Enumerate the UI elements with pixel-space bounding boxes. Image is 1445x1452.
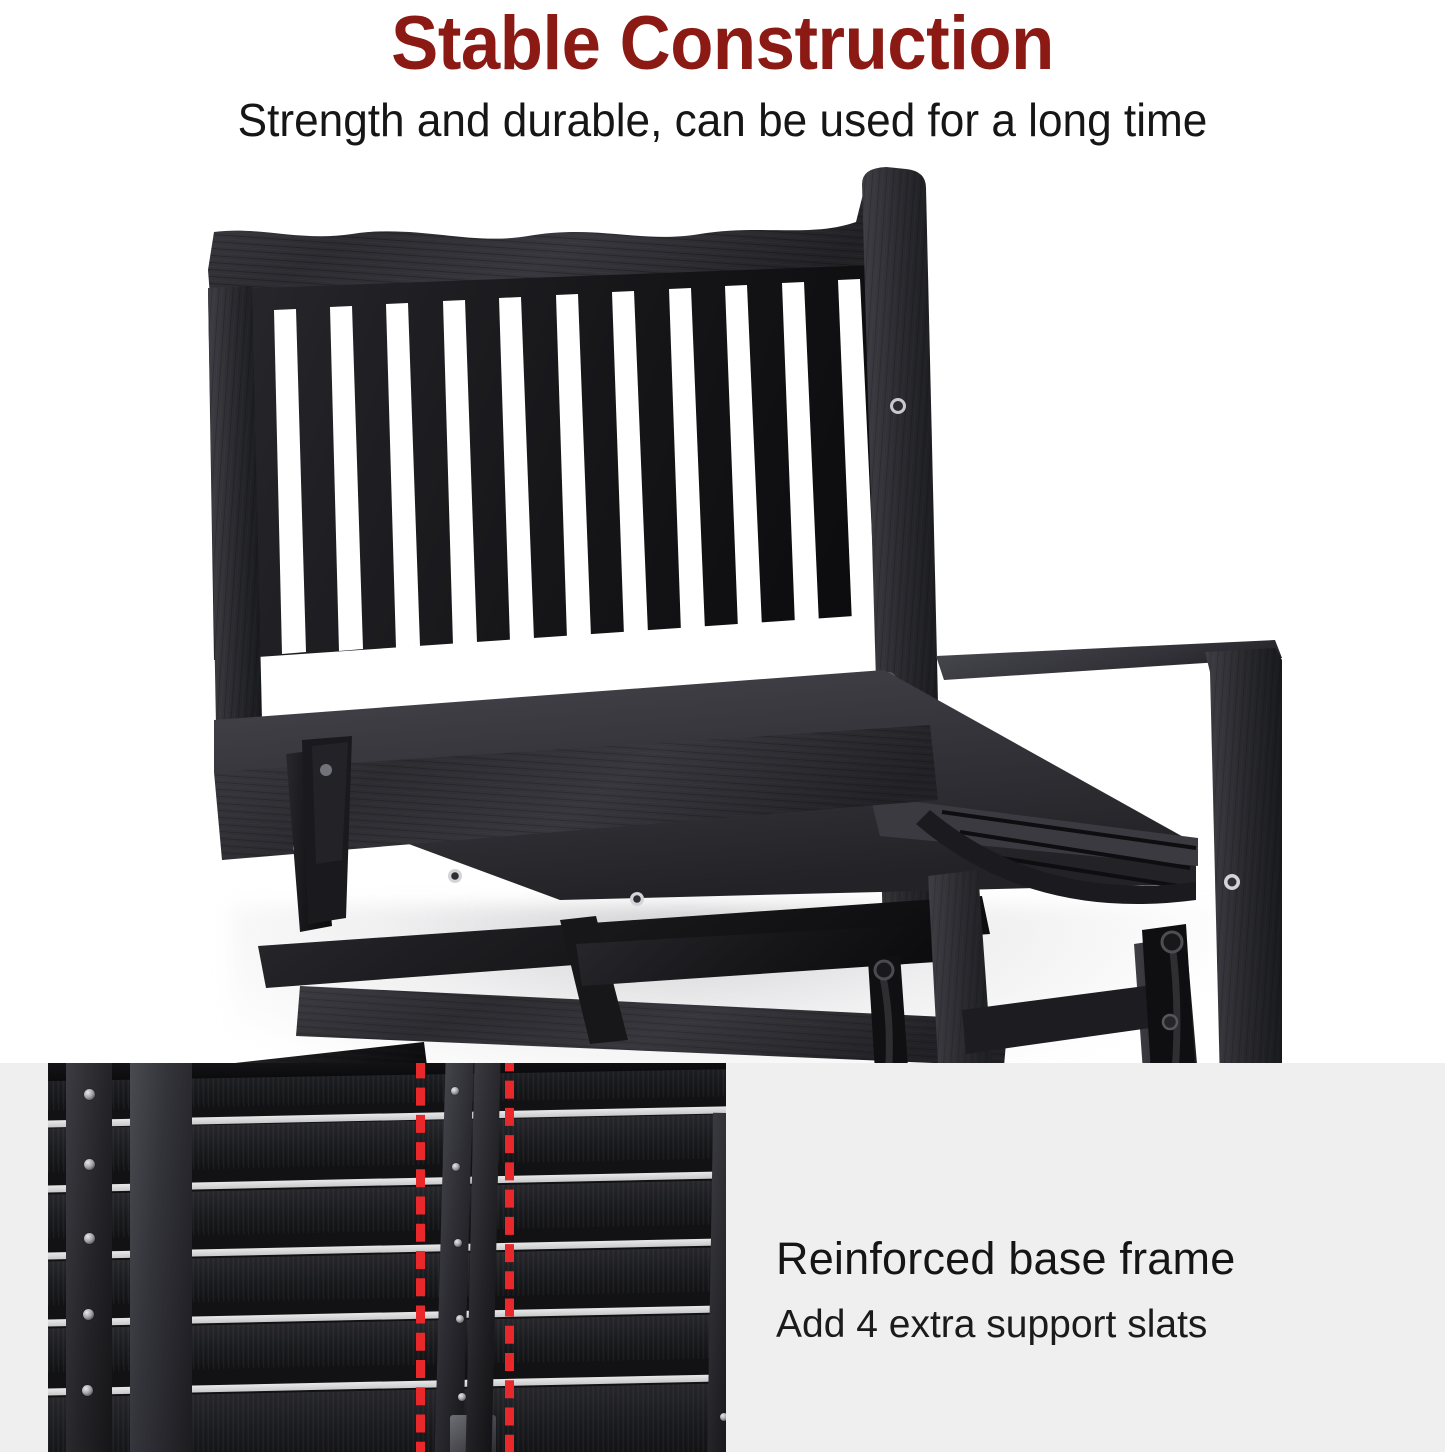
detail-subtitle: Add 4 extra support slats <box>776 1302 1376 1348</box>
page-subtitle: Strength and durable, can be used for a … <box>29 93 1416 147</box>
bench-illustration <box>0 160 1445 1063</box>
detail-title: Reinforced base frame <box>776 1233 1376 1285</box>
product-infographic: Stable Construction Strength and durable… <box>0 0 1445 1452</box>
highlight-box <box>416 1063 514 1452</box>
main-product-photo <box>0 160 1445 1063</box>
detail-closeup-photo <box>48 1063 726 1452</box>
page-title: Stable Construction <box>51 2 1395 86</box>
